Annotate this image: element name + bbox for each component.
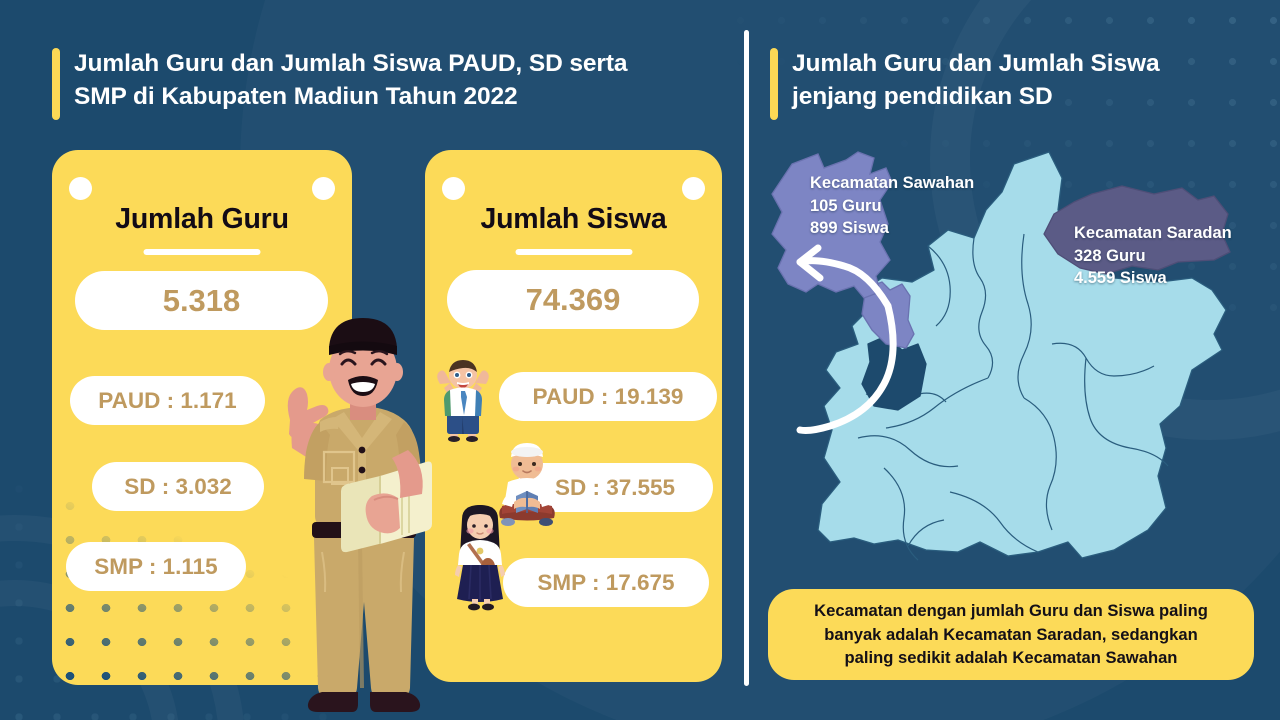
punch-hole-right-icon: [312, 177, 335, 200]
guru-paud-pill: PAUD : 1.171: [70, 376, 265, 425]
student-girl-illustration: [448, 503, 512, 613]
card-siswa-underline: [515, 249, 632, 255]
student-boy-illustration: [430, 358, 496, 442]
right-title-text: Jumlah Guru dan Jumlah Siswa jenjang pen…: [792, 48, 1160, 113]
card-guru-heading: Jumlah Guru: [52, 203, 352, 236]
title-accent-bar-right: [770, 48, 778, 120]
left-panel-title: Jumlah Guru dan Jumlah Siswa PAUD, SD se…: [52, 48, 627, 120]
card-guru-underline: [144, 249, 261, 255]
title-accent-bar-left: [52, 48, 60, 120]
card-siswa-heading: Jumlah Siswa: [425, 203, 722, 236]
siswa-total-pill: 74.369: [447, 270, 699, 329]
map-label-saradan: Kecamatan Saradan 328 Guru 4.559 Siswa: [1074, 222, 1232, 290]
punch-hole-right-icon: [682, 177, 705, 200]
map-caption-text: Kecamatan dengan jumlah Guru dan Siswa p…: [814, 599, 1208, 670]
punch-hole-left-icon: [69, 177, 92, 200]
guru-smp-pill: SMP : 1.115: [66, 542, 246, 591]
map-caption-box: Kecamatan dengan jumlah Guru dan Siswa p…: [768, 589, 1254, 680]
siswa-paud-pill: PAUD : 19.139: [499, 372, 717, 421]
guru-sd-pill: SD : 3.032: [92, 462, 264, 511]
right-panel-title: Jumlah Guru dan Jumlah Siswa jenjang pen…: [770, 48, 1160, 120]
siswa-smp-pill: SMP : 17.675: [503, 558, 709, 607]
vertical-divider: [744, 30, 749, 686]
left-title-text: Jumlah Guru dan Jumlah Siswa PAUD, SD se…: [74, 48, 627, 113]
punch-hole-left-icon: [442, 177, 465, 200]
map-label-sawahan: Kecamatan Sawahan 105 Guru 899 Siswa: [810, 172, 974, 240]
